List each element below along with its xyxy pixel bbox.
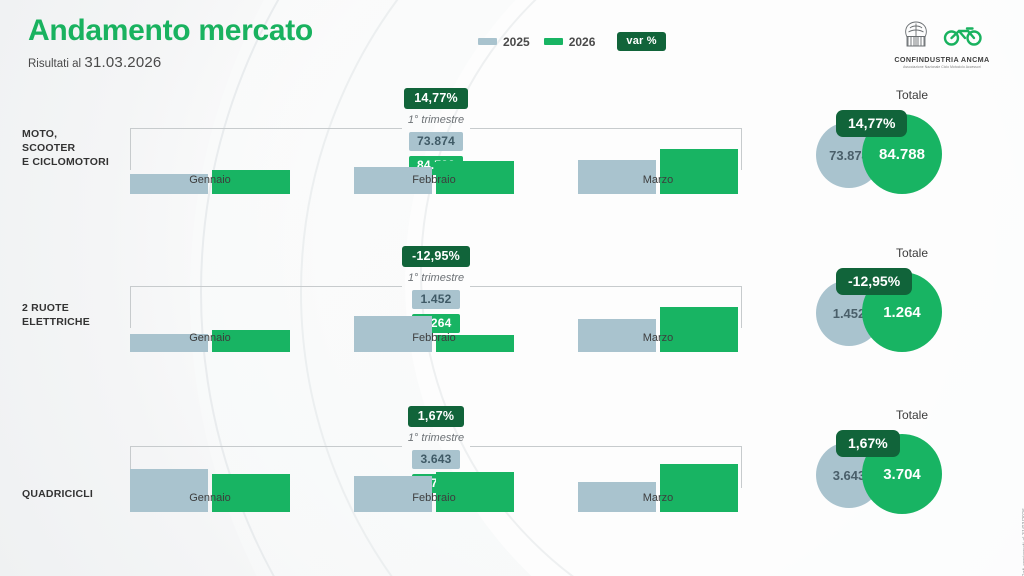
legend: 2025 2026 var % [478,32,666,51]
chart-2-bar-2026-marzo [660,307,738,352]
chart-1: 14,77% 1° trimestre 73.874 84.788 Gennai… [130,92,742,222]
chart-2-month-febbraio: Febbraio [354,332,514,344]
total-block-1: Totale 73.874 84.788 14,77% [800,88,1024,194]
infographic-page: Andamento mercato Risultati al 31.03.202… [0,0,1024,576]
total-block-3: Totale 3.643 3.704 1,67% [800,408,1024,514]
chart-3-month-gennaio: Gennaio [130,492,290,504]
chart-3-group-gennaio: Gennaio [130,442,290,512]
section-label-3-line-1: QUADRICICLI [22,488,132,502]
chart-3-month-febbraio: Febbraio [354,492,514,504]
chart-3-month-marzo: Marzo [578,492,738,504]
subtitle: Risultati al 31.03.2026 [28,54,313,71]
chart-3: 1,67% 1° trimestre 3.643 3.704 Gennaio [130,410,742,540]
legend-label-2026: 2026 [569,35,596,49]
section-label-1-line-1: MOTO, [22,128,132,142]
legend-swatch-2025-icon [478,38,497,45]
logo-caption: CONFINDUSTRIA ANCMA [878,55,1006,64]
total-variation-badge-3: 1,67% [836,430,900,457]
section-label-2: 2 RUOTE ELETTRICHE [22,302,132,330]
ancma-motorcycle-icon [943,22,983,48]
chart-1-group-gennaio: Gennaio [130,124,290,194]
chart-1-month-febbraio: Febbraio [354,174,514,186]
total-variation-badge-1: 14,77% [836,110,907,137]
chart-3-bar-2025-gennaio [130,469,208,512]
chart-2-group-marzo: Marzo [578,282,738,352]
chart-3-bar-2026-marzo [660,464,738,512]
page-title: Andamento mercato [28,14,313,47]
total-bubbles-2: 1.452 1.264 -12,95% [800,270,1024,352]
chart-2-month-marzo: Marzo [578,332,738,344]
legend-label-2025: 2025 [503,35,530,49]
total-variation-badge-2: -12,95% [836,268,912,295]
chart-3-bars: Gennaio Febbraio Marzo [130,410,742,540]
chart-1-bars: Gennaio Febbraio Marzo [130,92,742,222]
logo-block: CONFINDUSTRIA ANCMA Associazione Naziona… [878,18,1006,69]
chart-2-bars: Gennaio Febbraio Marzo [130,250,742,380]
legend-item-2026: 2026 [544,35,596,49]
chart-2: -12,95% 1° trimestre 1.452 1.264 Gennaio [130,250,742,380]
chart-1-group-febbraio: Febbraio [354,124,514,194]
section-label-1: MOTO, SCOOTER E CICLOMOTORI [22,128,132,170]
legend-swatch-2026-icon [544,38,563,45]
legend-var-badge: var % [617,32,665,51]
chart-1-group-marzo: Marzo [578,124,738,194]
subtitle-date: 31.03.2026 [84,54,161,71]
total-title-3: Totale [800,408,1024,422]
chart-3-group-marzo: Marzo [578,442,738,512]
chart-1-month-marzo: Marzo [578,174,738,186]
chart-1-month-gennaio: Gennaio [130,174,290,186]
confindustria-eagle-icon [901,19,931,51]
chart-2-group-febbraio: Febbraio [354,282,514,352]
header: Andamento mercato Risultati al 31.03.202… [28,14,313,71]
total-title-1: Totale [800,88,1024,102]
total-block-2: Totale 1.452 1.264 -12,95% [800,246,1024,352]
logo-caption-sub: Associazione Nazionale Ciclo Motociclo A… [883,65,1001,69]
total-bubbles-1: 73.874 84.788 14,77% [800,112,1024,194]
section-label-1-line-2: SCOOTER [22,142,132,156]
section-label-3: QUADRICICLI [22,488,132,502]
total-title-2: Totale [800,246,1024,260]
subtitle-prefix: Risultati al [28,58,81,70]
chart-2-group-gennaio: Gennaio [130,282,290,352]
section-label-1-line-3: E CICLOMOTORI [22,156,132,170]
section-label-2-line-1: 2 RUOTE [22,302,132,316]
chart-1-bar-2026-marzo [660,149,738,194]
legend-item-2025: 2025 [478,35,530,49]
section-label-2-line-2: ELETTRICHE [22,316,132,330]
chart-3-group-febbraio: Febbraio [354,442,514,512]
total-bubbles-3: 3.643 3.704 1,67% [800,432,1024,514]
chart-2-month-gennaio: Gennaio [130,332,290,344]
